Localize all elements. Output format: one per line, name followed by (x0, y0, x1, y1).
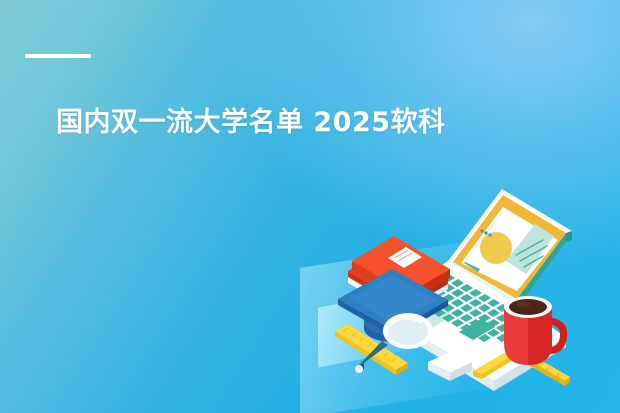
promo-banner: 国内双一流大学名单 2025软科 (0, 0, 620, 413)
page-title: 国内双一流大学名单 2025软科 (56, 106, 446, 140)
coffee-mug-icon (504, 296, 567, 365)
accent-rule (25, 54, 91, 58)
education-illustration (330, 185, 620, 413)
